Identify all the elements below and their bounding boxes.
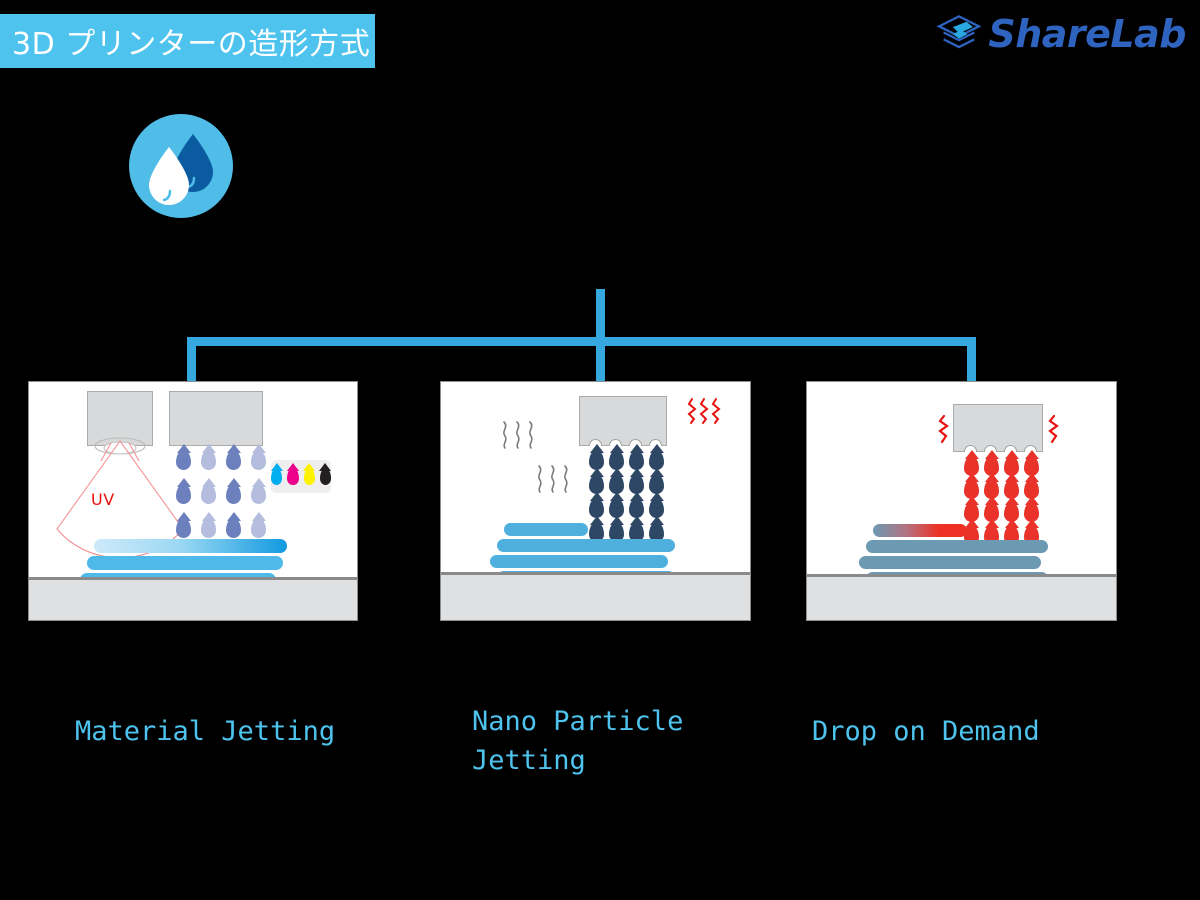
heat-squiggle-group (1047, 414, 1061, 444)
nano-droplet (589, 474, 604, 494)
nano-droplet (649, 474, 664, 494)
page-title: 3D プリンターの造形方式 (0, 19, 370, 63)
connector-branch-1 (187, 337, 196, 384)
print-head-box (169, 391, 263, 446)
cmyk-drop-black (320, 468, 331, 485)
sharelab-logo: ShareLab (936, 14, 1186, 54)
panel-material-jetting[interactable]: UV (28, 381, 358, 621)
title-banner: 3D プリンターの造形方式 (0, 14, 375, 68)
logo-wordmark: ShareLab (988, 15, 1186, 53)
base-plate (29, 577, 357, 621)
drop-on-demand-scene (807, 382, 1116, 620)
cmyk-drop-magenta (287, 468, 298, 485)
nano-droplet (609, 474, 624, 494)
build-layer-top (94, 539, 287, 553)
ink-droplet (226, 518, 241, 538)
heat-squiggle-group (937, 414, 951, 444)
ink-droplet (251, 484, 266, 504)
connector-bar (187, 337, 976, 346)
material-jetting-scene: UV (29, 382, 357, 620)
nano-droplet (629, 474, 644, 494)
ink-droplet (226, 484, 241, 504)
build-layer (87, 556, 283, 570)
vapor-squiggle-group (499, 420, 539, 450)
caption-nano-particle-jetting: Nano Particle Jetting (472, 702, 683, 780)
connector-branch-3 (967, 337, 976, 384)
ink-droplet (201, 518, 216, 538)
cmyk-drop-yellow (304, 468, 315, 485)
build-layer-top (873, 524, 967, 537)
nano-droplet (609, 450, 624, 470)
build-layer (490, 555, 668, 568)
ink-droplet (176, 450, 191, 470)
panel-nano-particle-jetting[interactable] (440, 381, 751, 621)
cmyk-swatch-box[interactable] (271, 460, 331, 493)
ink-droplet (201, 484, 216, 504)
ink-droplet (226, 450, 241, 470)
nano-particle-jetting-scene (441, 382, 750, 620)
nano-droplet (629, 498, 644, 518)
sharelab-layers-icon (936, 14, 982, 54)
ink-droplet (201, 450, 216, 470)
nano-droplet (589, 450, 604, 470)
ink-droplet (251, 450, 266, 470)
vapor-squiggle-group (534, 464, 574, 494)
ink-droplet (176, 484, 191, 504)
water-droplets-icon (127, 112, 235, 220)
build-layer (497, 539, 675, 552)
nano-droplet (609, 498, 624, 518)
base-plate (441, 572, 750, 621)
build-layer (866, 540, 1048, 553)
connector-branch-2 (596, 337, 605, 384)
ink-droplet (251, 518, 266, 538)
nano-droplet (589, 498, 604, 518)
nano-droplet (629, 450, 644, 470)
panel-drop-on-demand[interactable] (806, 381, 1117, 621)
build-layer-top (504, 523, 588, 536)
base-plate (807, 574, 1116, 621)
diagram-canvas: 3D プリンターの造形方式 ShareLab (0, 0, 1200, 900)
build-layer (859, 556, 1041, 569)
caption-drop-on-demand: Drop on Demand (812, 712, 1040, 751)
cmyk-drop-cyan (271, 468, 282, 485)
caption-material-jetting: Material Jetting (75, 712, 335, 751)
ink-droplet (176, 518, 191, 538)
nano-droplet (649, 450, 664, 470)
nano-droplet (649, 498, 664, 518)
uv-label: UV (91, 490, 115, 509)
heat-squiggle-group (687, 397, 721, 425)
